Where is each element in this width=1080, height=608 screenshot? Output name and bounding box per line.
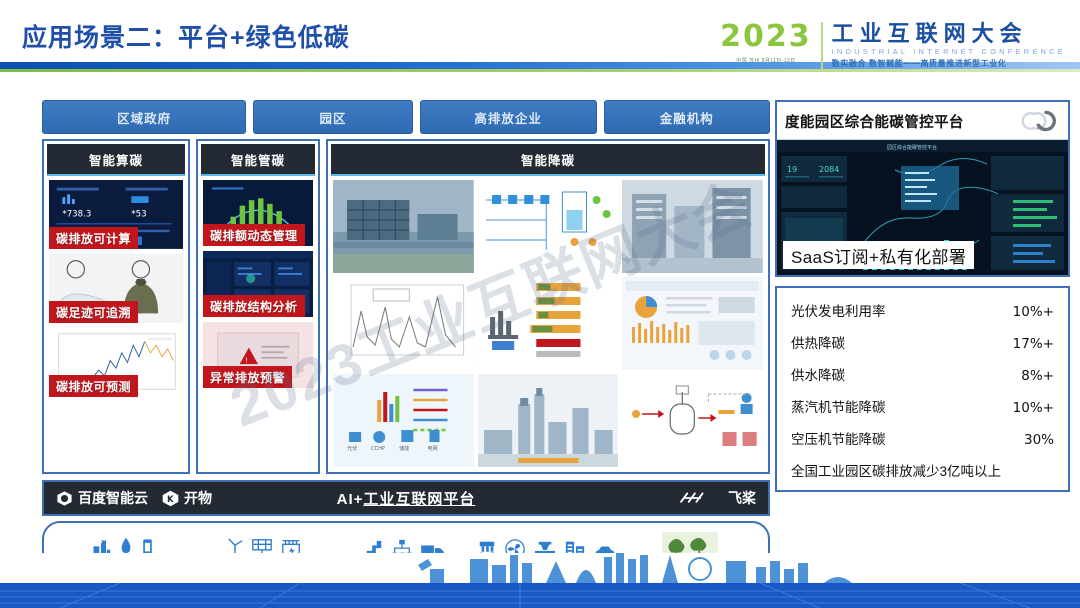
metric-label: 供热降碳: [791, 332, 845, 352]
panel-1-header: 智能算碳: [47, 144, 185, 176]
conference-subtitle: 数实融合 数智赋能——高质量推进新型工业化: [832, 58, 1066, 69]
tab-industrial-park[interactable]: 园区: [253, 100, 413, 134]
card-abnormal-emission-alert[interactable]: ! 异常排放预警: [203, 322, 313, 388]
page-title: 应用场景二：平台+绿色低碳: [22, 18, 350, 54]
metric-label: 供水降碳: [791, 364, 845, 384]
svg-text:园区综合能碳管控平台: 园区综合能碳管控平台: [887, 144, 937, 151]
card-dyeing-steam-optimization[interactable]: 印染蒸汽优化: [622, 277, 763, 370]
hvac-building-thumb: [622, 180, 763, 273]
card-chemical-batching-optimization[interactable]: 化工配料优化: [622, 374, 763, 467]
metric-row: 蒸汽机节能降碳 10%+: [791, 396, 1054, 416]
card-carbon-predictable[interactable]: 碳排放可预测: [49, 328, 183, 397]
title-rule-green: [0, 69, 1080, 72]
platform-bar: 百度智能云 K 开物 AI+工业互联网平台 飞桨: [42, 480, 770, 516]
panel-smart-carbon-management: 智能管碳: [196, 139, 320, 474]
panel-smart-carbon-accounting: 智能算碳 *738.3 *53: [42, 139, 190, 474]
brand-label: 百度智能云: [78, 488, 148, 508]
brand-label: 飞桨: [728, 488, 756, 508]
platform-center-label: AI+工业互联网平台: [44, 488, 768, 509]
card-wind-pv-forecast[interactable]: 风电/光伏预测: [333, 277, 474, 370]
dyeing-steam-thumb: [622, 277, 763, 370]
card-caption: 碳足迹可追溯: [49, 301, 138, 323]
svg-text:19: 19: [787, 165, 797, 174]
panel-1-body: *738.3 *53 碳排放可计算: [47, 176, 185, 399]
conference-year: 2023: [720, 22, 812, 52]
category-tabs: 区域政府 园区 高排放企业 金融机构: [42, 100, 770, 134]
metric-row: 空压机节能降碳 30%: [791, 428, 1054, 448]
slide-root: 应用场景二：平台+绿色低碳 2023 中国·苏州 8月11日-13日 工业互联网…: [0, 0, 1080, 608]
card-caption: 异常排放预警: [203, 366, 292, 388]
conference-meta: 中国·苏州 8月11日-13日: [720, 57, 812, 64]
conference-year-block: 2023 中国·苏州 8月11日-13日: [720, 22, 821, 64]
tab-high-emission-enterprise[interactable]: 高排放企业: [420, 100, 597, 134]
svg-text:光伏: 光伏: [347, 445, 357, 452]
metrics-table: 光伏发电利用率 10%+ 供热降碳 17%+ 供水降碳 8%+ 蒸汽机节能降碳 …: [775, 286, 1070, 492]
product-title: 度能园区综合能碳管控平台: [785, 111, 964, 132]
card-quota-dynamic-management[interactable]: 碳排额动态管理: [203, 180, 313, 246]
panel-3-header: 智能降碳: [331, 144, 765, 176]
platform-center-underlined: 工业互联网平台: [363, 491, 475, 508]
conference-logo: 2023 中国·苏州 8月11日-13日 工业互联网大会 INDUSTRIAL …: [720, 22, 1066, 69]
svg-text:*738.3: *738.3: [62, 209, 91, 219]
product-card: 度能园区综合能碳管控平台 园区综合能碳管控平台 192084: [775, 100, 1070, 277]
panels-row: 智能算碳 *738.3 *53: [42, 139, 770, 474]
card-caption: 碳排放可计算: [49, 227, 138, 249]
conference-name-cn: 工业互联网大会: [832, 22, 1066, 45]
card-caption: 碳排额动态管理: [203, 224, 305, 246]
metric-value: 17%+: [1013, 336, 1054, 352]
metric-value: 30%: [1024, 432, 1054, 448]
paddlepaddle-icon: [678, 489, 724, 507]
product-screenshot: 园区综合能碳管控平台 192084: [777, 140, 1068, 275]
card-multi-energy-complementarity[interactable]: 光伏CCHP储能电网 多能互补: [333, 374, 474, 467]
metric-label: 蒸汽机节能降碳: [791, 396, 886, 416]
svg-text:K: K: [167, 495, 174, 505]
card-caption: 碳排放可预测: [49, 375, 138, 397]
footer-skyline: [0, 553, 1080, 608]
svg-text:CCHP: CCHP: [371, 446, 385, 452]
panel-2-header: 智能管碳: [201, 144, 315, 176]
card-thermal-air-cooling[interactable]: 火电空冷岛优化: [333, 180, 474, 273]
brand-baidu-cloud[interactable]: 百度智能云: [56, 488, 148, 508]
product-header: 度能园区综合能碳管控平台: [777, 102, 1068, 140]
cement-kiln-thumb: [478, 374, 619, 467]
tab-regional-government[interactable]: 区域政府: [42, 100, 246, 134]
conference-divider: [821, 22, 823, 69]
metrics-note: 全国工业园区碳排放减少3亿吨以上: [791, 460, 1054, 480]
saas-overlay-label: SaaS订阅+私有化部署: [783, 241, 974, 269]
cloud-loop-icon: [1020, 109, 1060, 133]
metric-row: 供热降碳 17%+: [791, 332, 1054, 352]
tab-financial-institution[interactable]: 金融机构: [604, 100, 770, 134]
card-building-hvac-optimization[interactable]: 建筑暖通优化: [622, 180, 763, 273]
metric-label: 空压机节能降碳: [791, 428, 886, 448]
card-water-supply-optimization[interactable]: 供水优化: [478, 180, 619, 273]
card-carbon-computable[interactable]: *738.3 *53 碳排放可计算: [49, 180, 183, 249]
chemical-batching-thumb: [622, 374, 763, 467]
card-carbon-footprint-traceable[interactable]: 碳足迹可追溯: [49, 254, 183, 323]
metric-row: 光伏发电利用率 10%+: [791, 300, 1054, 320]
card-heating-optimization[interactable]: 供热优化: [478, 277, 619, 370]
power-plant-thumb: [333, 180, 474, 273]
metric-row: 供水降碳 8%+: [791, 364, 1054, 384]
reduction-scenarios-grid: 火电空冷岛优化: [333, 180, 763, 467]
brand-label: 开物: [184, 488, 212, 508]
wind-pv-curve-thumb: [333, 277, 474, 370]
conference-name-block: 工业互联网大会 INDUSTRIAL INTERNET CONFERENCE 数…: [832, 22, 1066, 69]
brand-paddlepaddle[interactable]: 飞桨: [678, 488, 756, 508]
metric-value: 8%+: [1021, 368, 1054, 384]
conference-name-en: INDUSTRIAL INTERNET CONFERENCE: [832, 47, 1066, 56]
svg-text:储能: 储能: [399, 445, 409, 452]
multi-energy-thumb: 光伏CCHP储能电网: [333, 374, 474, 467]
metric-value: 10%+: [1013, 400, 1054, 416]
brand-kaiwu[interactable]: K 开物: [162, 488, 212, 508]
water-flow-thumb: [478, 180, 619, 273]
heating-network-thumb: [478, 277, 619, 370]
svg-text:2084: 2084: [819, 165, 839, 174]
kaiwu-icon: K: [162, 490, 179, 507]
platform-center-prefix: AI+: [337, 491, 364, 508]
svg-text:*53: *53: [131, 209, 146, 219]
baidu-cloud-icon: [56, 490, 73, 507]
metric-value: 10%+: [1013, 304, 1054, 320]
card-emission-structure-analysis[interactable]: 碳排放结构分析: [203, 251, 313, 317]
main-content: 区域政府 园区 高排放企业 金融机构 智能算碳 *738.3: [42, 100, 770, 593]
svg-text:电网: 电网: [427, 445, 437, 452]
panel-2-body: 碳排额动态管理: [201, 176, 315, 390]
card-cement-kiln-optimization[interactable]: 水泥窑磨优化: [478, 374, 619, 467]
svg-text:!: !: [245, 355, 248, 364]
panel-smart-carbon-reduction: 智能降碳: [326, 139, 770, 474]
metric-label: 光伏发电利用率: [791, 300, 886, 320]
card-caption: 碳排放结构分析: [203, 295, 305, 317]
panel-3-body: 火电空冷岛优化: [331, 176, 765, 469]
right-column: 度能园区综合能碳管控平台 园区综合能碳管控平台 192084: [775, 100, 1070, 492]
